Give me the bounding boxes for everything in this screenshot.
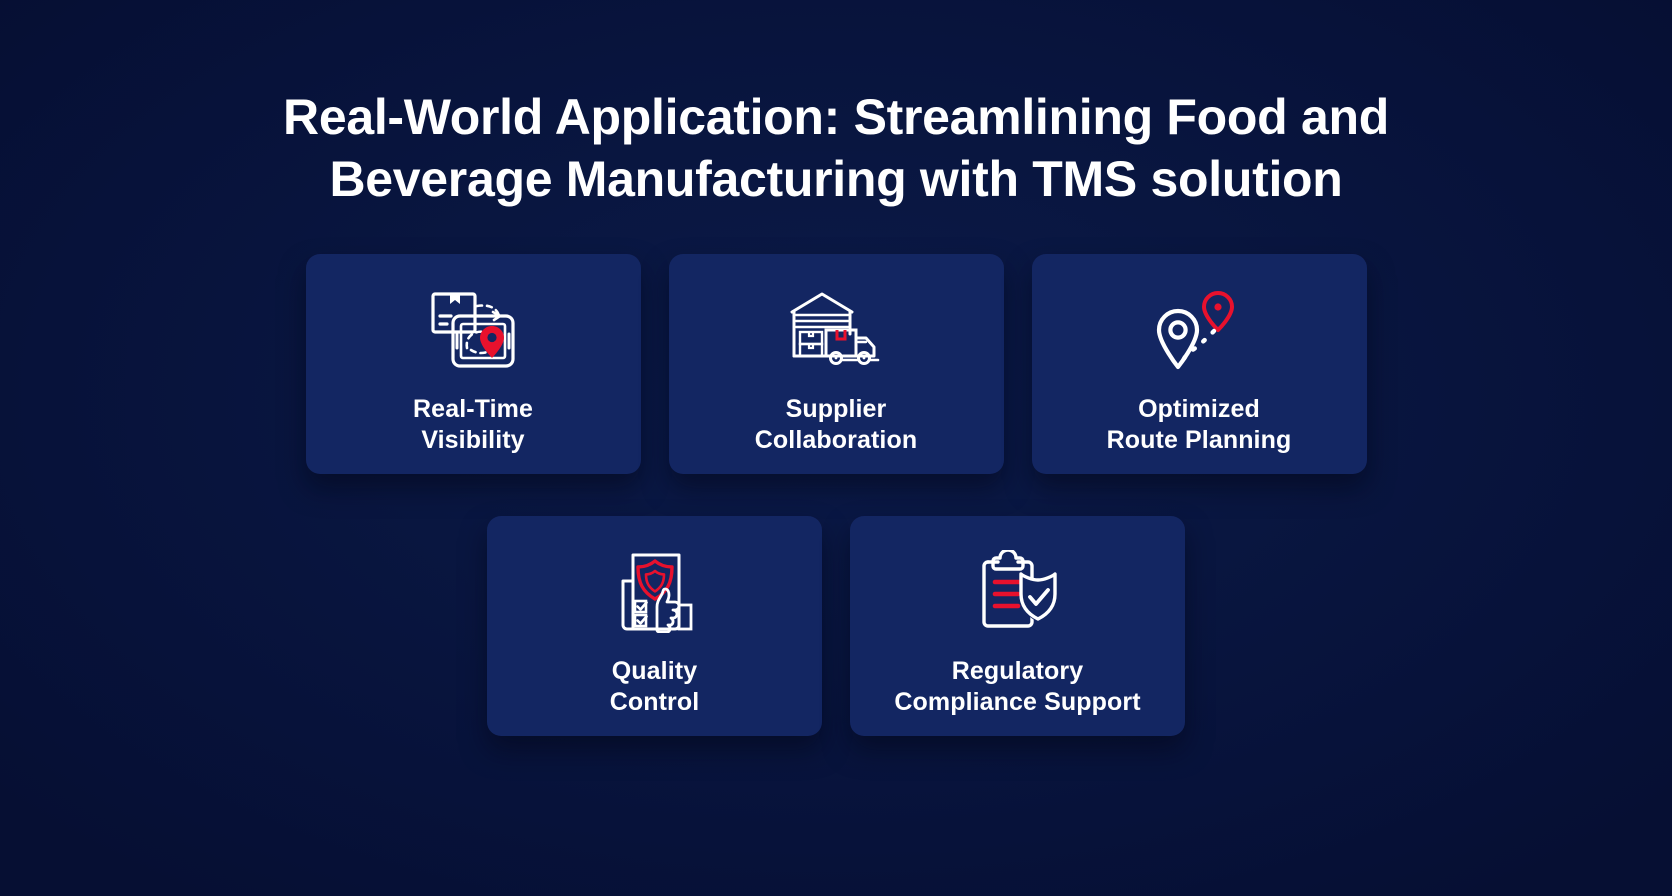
card-label-line-2: Control xyxy=(610,687,700,718)
card-regulatory-compliance-support[interactable]: Regulatory Compliance Support xyxy=(850,516,1185,736)
card-optimized-route-planning[interactable]: Optimized Route Planning xyxy=(1032,254,1367,474)
icon-wrap xyxy=(1152,284,1246,376)
card-label-line-1: Real-Time xyxy=(413,395,533,423)
icon-wrap xyxy=(786,284,886,376)
icon-wrap xyxy=(613,546,697,638)
card-row-2: Quality Control xyxy=(487,516,1185,736)
card-supplier-collaboration[interactable]: Supplier Collaboration xyxy=(669,254,1004,474)
card-real-time-visibility[interactable]: Real-Time Visibility xyxy=(306,254,641,474)
card-label: Quality Control xyxy=(596,656,714,718)
card-label-line-1: Supplier xyxy=(786,395,887,423)
page-title-line-1: Real-World Application: Streamlining Foo… xyxy=(126,86,1546,148)
mobile-tracking-map-pin-package-icon xyxy=(427,290,519,370)
card-row-1: Real-Time Visibility xyxy=(306,254,1367,474)
card-quality-control[interactable]: Quality Control xyxy=(487,516,822,736)
card-label-line-2: Compliance Support xyxy=(894,687,1140,718)
route-map-pins-dashed-path-icon xyxy=(1152,287,1246,373)
icon-wrap xyxy=(427,284,519,376)
card-label: Regulatory Compliance Support xyxy=(880,656,1154,718)
card-label-line-2: Visibility xyxy=(413,425,533,456)
clipboard-shield-check-icon xyxy=(974,550,1062,634)
card-label-line-1: Optimized xyxy=(1138,395,1260,423)
document-shield-checklist-thumbs-up-icon xyxy=(613,551,697,633)
page-title: Real-World Application: Streamlining Foo… xyxy=(126,86,1546,210)
card-grid: Real-Time Visibility xyxy=(306,254,1367,736)
card-label-line-1: Quality xyxy=(612,657,697,685)
icon-wrap xyxy=(974,546,1062,638)
page-title-line-2: Beverage Manufacturing with TMS solution xyxy=(126,148,1546,210)
card-label-line-2: Route Planning xyxy=(1107,425,1292,456)
card-label-line-1: Regulatory xyxy=(952,657,1084,685)
card-label: Supplier Collaboration xyxy=(741,394,931,456)
card-label: Real-Time Visibility xyxy=(399,394,547,456)
slide-container: Real-World Application: Streamlining Foo… xyxy=(0,0,1672,896)
card-label: Optimized Route Planning xyxy=(1093,394,1306,456)
warehouse-delivery-truck-icon xyxy=(786,290,886,370)
card-label-line-2: Collaboration xyxy=(755,425,917,456)
